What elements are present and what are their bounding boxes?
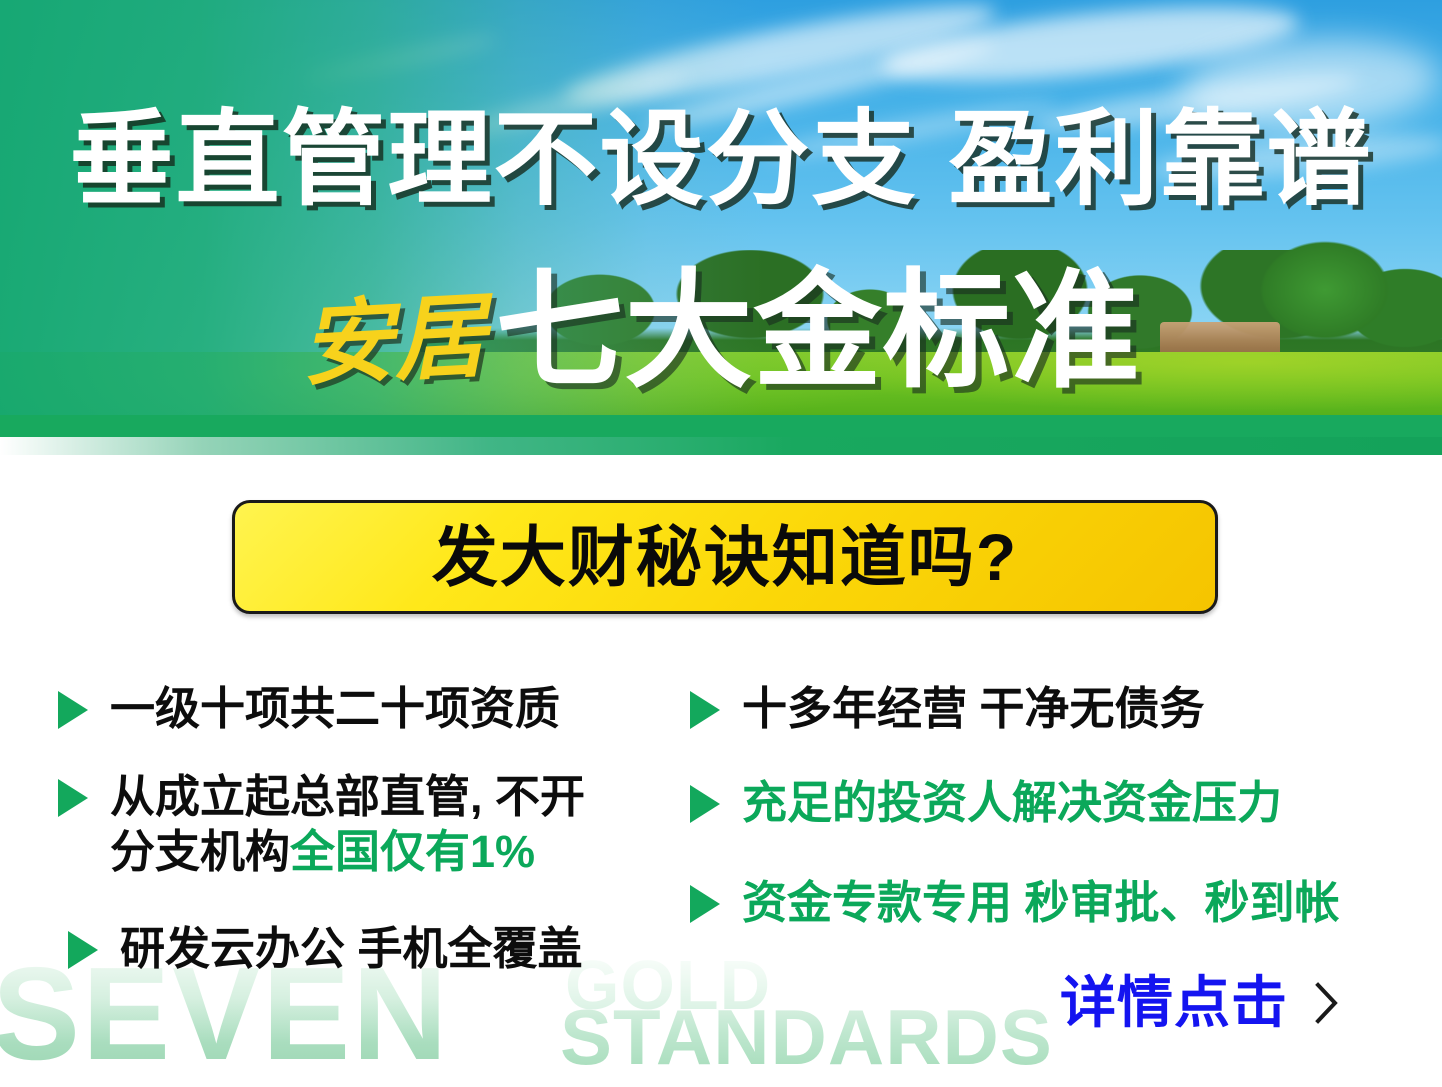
hero-banner: 垂直管理不设分支 盈利靠谱 安居 七大金标准 — [0, 0, 1442, 455]
triangle-bullet-icon — [690, 691, 720, 729]
triangle-bullet-icon — [58, 779, 88, 817]
feature-item-line2-prefix: 分支机构 — [110, 826, 290, 877]
feature-item-line2: 分支机构全国仅有1% — [110, 825, 585, 880]
hero-slogan-text: 七大金标准 — [496, 268, 1141, 396]
triangle-bullet-icon — [68, 931, 98, 969]
hero-brand-text: 安居 — [299, 290, 490, 392]
feature-item: 十多年经营 干净无债务 — [690, 682, 1205, 737]
feature-item-label: 充足的投资人解决资金压力 — [742, 776, 1282, 831]
feature-item: 从成立起总部直管, 不开 分支机构全国仅有1% — [58, 770, 585, 880]
detail-link[interactable]: 详情点击 — [1060, 975, 1340, 1031]
feature-item-highlight: 全国仅有1% — [290, 826, 535, 877]
feature-item: 一级十项共二十项资质 — [58, 682, 560, 737]
chevron-right-icon — [1314, 981, 1340, 1025]
feature-item-label: 研发云办公 手机全覆盖 — [120, 922, 583, 977]
green-band-fade — [0, 437, 1442, 455]
feature-item-label: 资金专款专用 秒审批、秒到帐 — [742, 876, 1340, 931]
green-band — [0, 415, 1442, 437]
feature-item: 充足的投资人解决资金压力 — [690, 776, 1282, 831]
watermark-standards: STANDARDS — [560, 998, 1053, 1076]
cta-banner-label: 发大财秘诀知道吗? — [432, 524, 1018, 590]
feature-item-label: 十多年经营 干净无债务 — [742, 682, 1205, 737]
hero-headline-secondary: 安居 七大金标准 — [0, 268, 1442, 396]
feature-item-label: 从成立起总部直管, 不开 分支机构全国仅有1% — [110, 770, 585, 880]
detail-link-label: 详情点击 — [1060, 975, 1288, 1031]
triangle-bullet-icon — [58, 691, 88, 729]
feature-item: 资金专款专用 秒审批、秒到帐 — [690, 876, 1340, 931]
feature-item: 研发云办公 手机全覆盖 — [68, 922, 583, 977]
triangle-bullet-icon — [690, 885, 720, 923]
feature-item-line1: 从成立起总部直管, 不开 — [110, 771, 585, 822]
hero-headline-primary: 垂直管理不设分支 盈利靠谱 — [0, 108, 1442, 212]
feature-item-label: 一级十项共二十项资质 — [110, 682, 560, 737]
cta-banner[interactable]: 发大财秘诀知道吗? — [232, 500, 1218, 614]
triangle-bullet-icon — [690, 785, 720, 823]
feature-list: 一级十项共二十项资质 从成立起总部直管, 不开 分支机构全国仅有1% 研发云办公… — [0, 660, 1442, 990]
